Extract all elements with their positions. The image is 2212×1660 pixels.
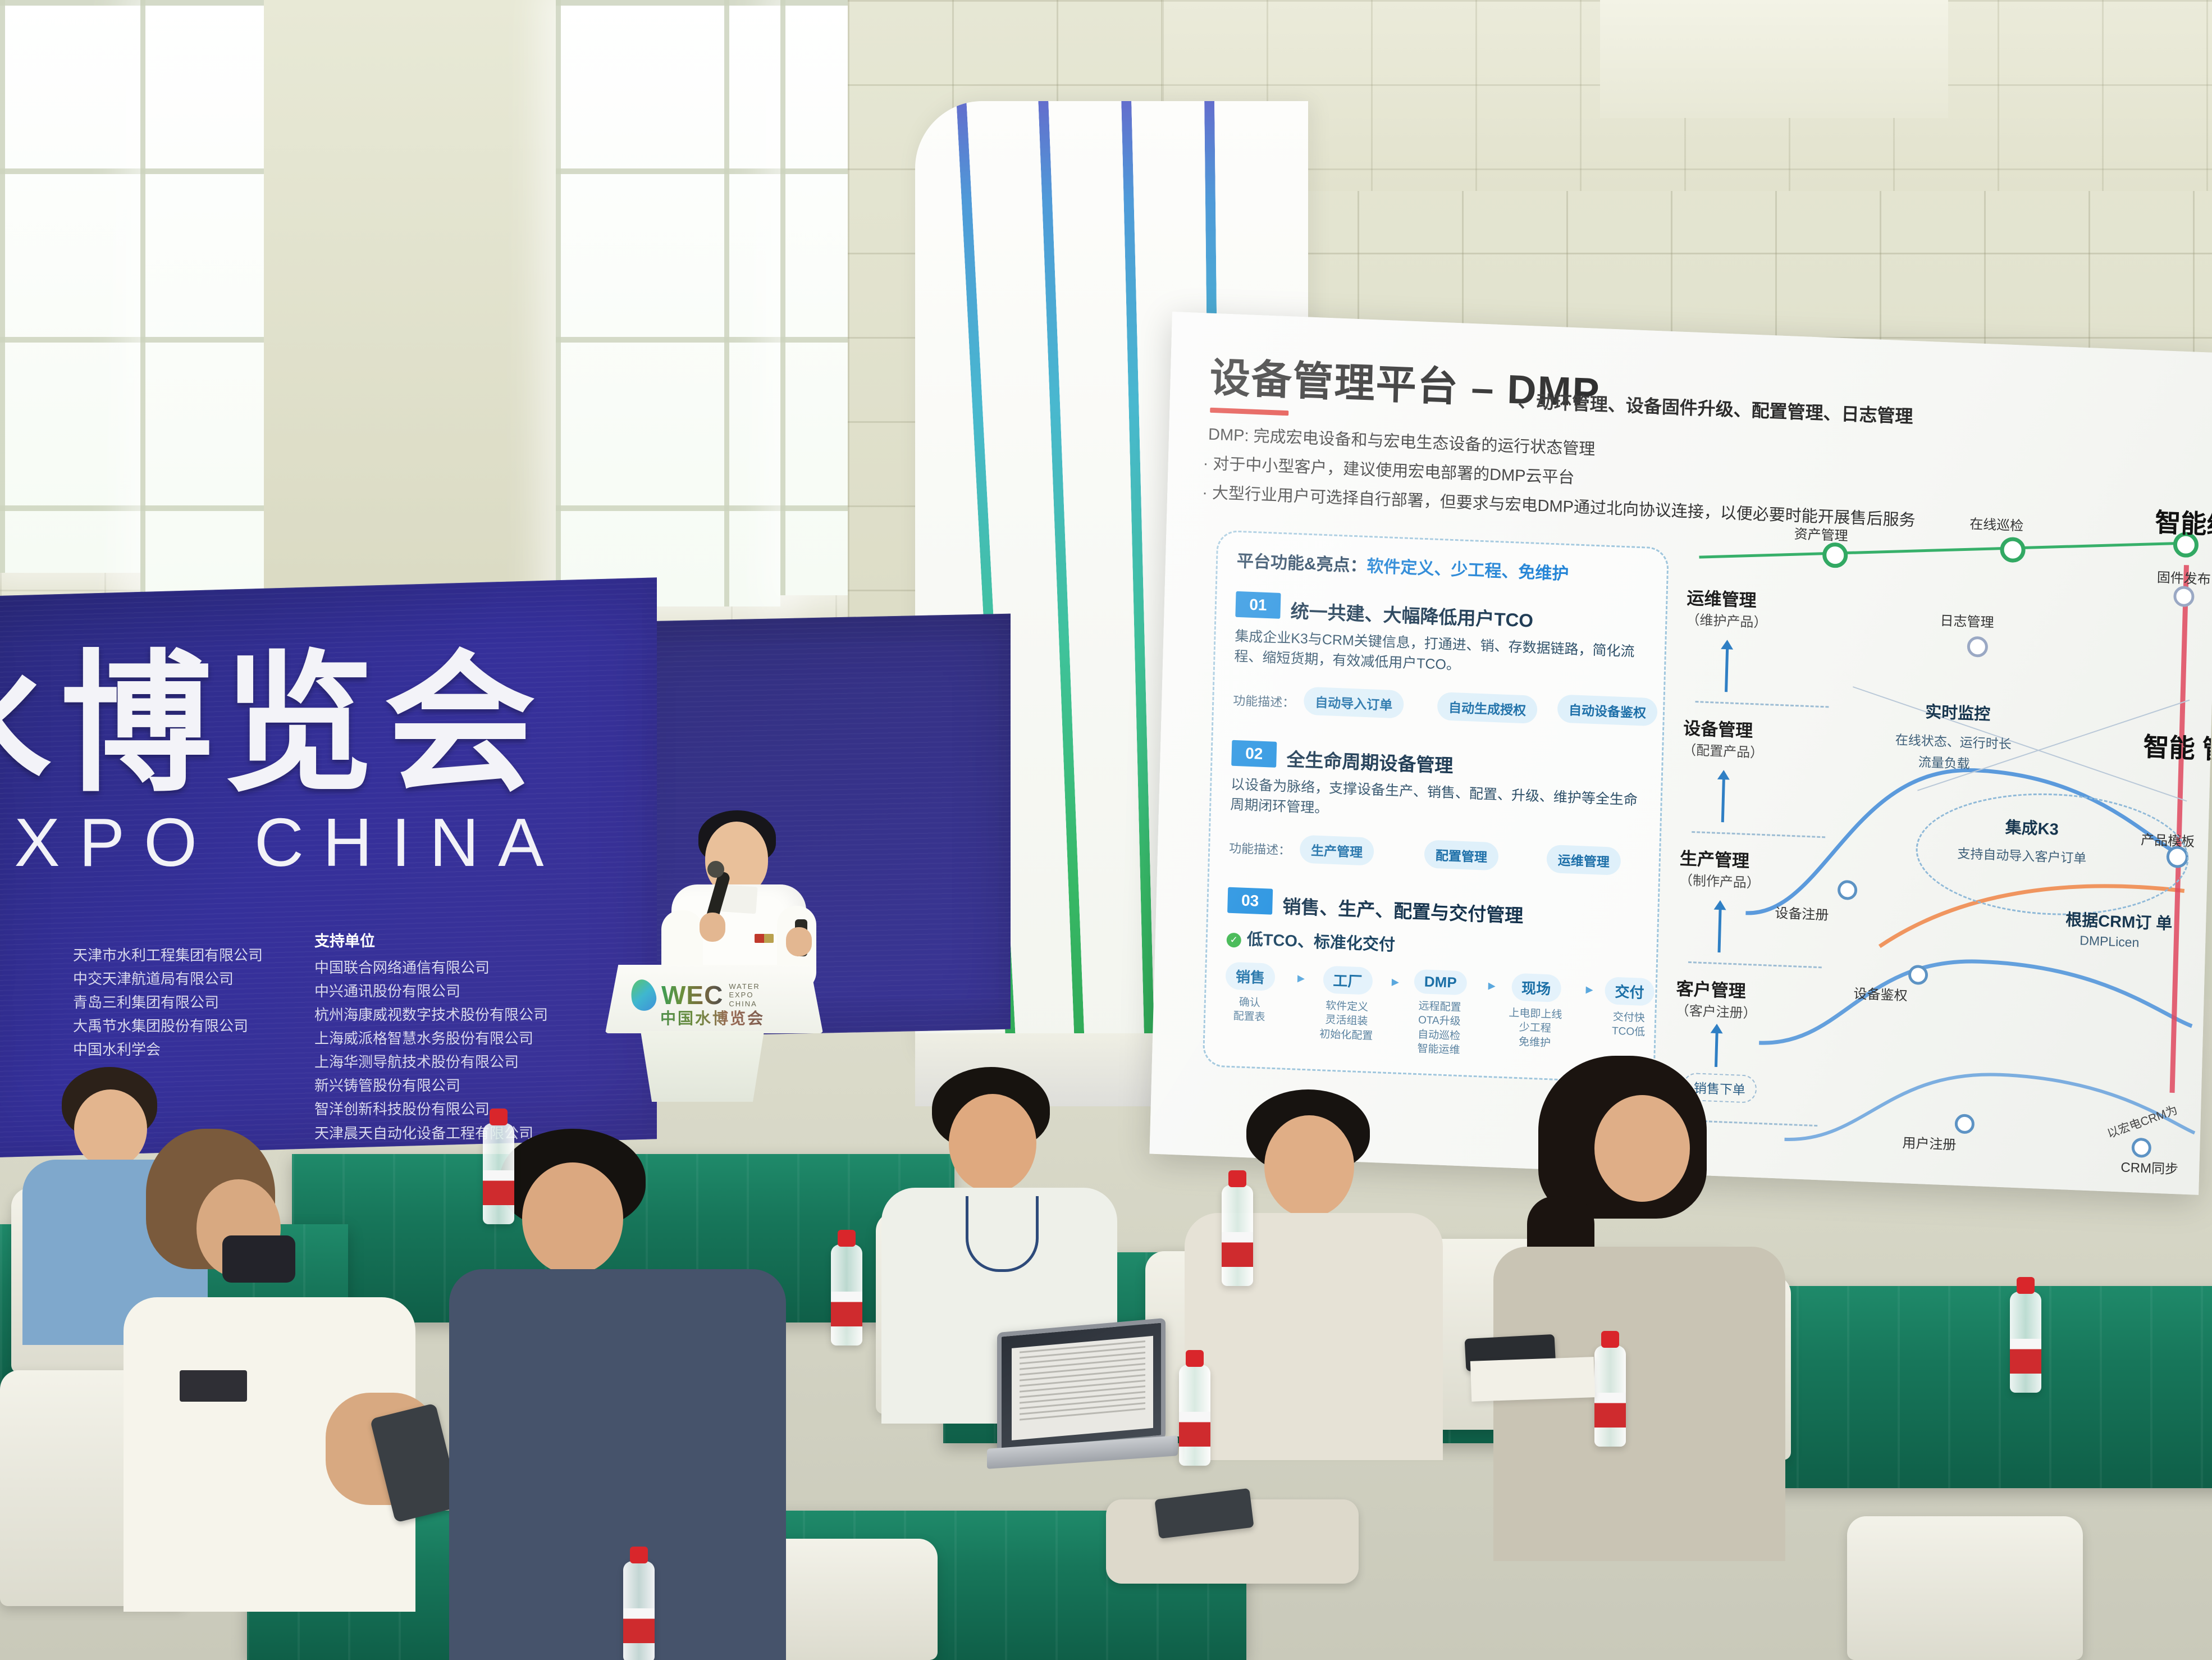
audience-head [949,1094,1036,1193]
audience-head [522,1162,623,1275]
section-02-tag-1: 生产管理 [1300,835,1374,866]
conference-room-photo: 设备管理平台 – DMP 、动环管理、设备固件升级、配置管理、日志管理 DMP:… [0,0,2212,1660]
wec-logo-cn: 中国水博览会 [660,1006,765,1029]
callout-k3-title: 集成K3 [2005,814,2059,840]
microphone-head-icon [707,861,724,878]
section-01-body: 集成企业K3与CRM关键信息，打通进、销、存数据链路，简化流程、缩短货期，有效减… [1234,627,1644,683]
flow-arrow-4: ▸ [1585,981,1593,998]
diagram-stage-4-sub: （客户注册） [1675,999,1757,1022]
audience-head [1264,1115,1354,1217]
water-bottle [1179,1365,1210,1466]
organizer-item: 中国水利学会 [73,1038,263,1061]
supporter-item: 中兴通讯股份有限公司 [314,979,548,1003]
flow-step-3-label: DMP [1414,969,1467,996]
feature-card-heading: 平台功能&亮点：软件定义、少工程、免维护 [1237,547,1569,585]
water-drop-icon [628,977,659,1013]
organizer-list: 天津市水利工程集团有限公司 中交天津航道局有限公司 青岛三利集团有限公司 大禹节… [73,943,263,1062]
wall-panel-left [264,0,556,618]
feature-heading-label: 平台功能&亮点： [1237,552,1367,576]
section-02-body: 以设备为脉络，支撑设备生产、销售、配置、升级、维护等全生命周期闭环管理。 [1230,775,1640,831]
water-bottle [483,1123,514,1224]
flow-step-2-label: 工厂 [1323,965,1373,995]
wec-logo-text: WEC [661,980,723,1010]
delivery-flow: 销售 确认配置表 ▸ 工厂 软件定义灵活组装初始化配置 ▸ DMP 远程配置OT… [1226,962,1641,978]
lanyard [966,1196,1039,1272]
diagram-stage-3-title: 生产管理 [1679,844,1749,872]
podium-front-panel: WEC WATER EXPO CHINA 中国水博览会 [605,965,823,1033]
window-bank-left [0,0,140,573]
laptop-document [1012,1336,1153,1440]
flow-arrow-1: ▸ [1297,969,1305,987]
diagram-stage-2-sub: （配置产品） [1683,738,1764,761]
flow-step-2-sub: 软件定义灵活组装初始化配置 [1319,998,1374,1043]
supporter-item: 杭州海康威视数字技术股份有限公司 [314,1003,548,1027]
flow-step-3: DMP 远程配置OTA升级自动巡检智能运维 [1412,969,1467,1058]
organizer-item: 青岛三利集团有限公司 [73,991,263,1014]
audience-head [74,1089,147,1168]
diagram-node-device-auth: 设备鉴权 [1853,983,1908,1005]
lifecycle-diagram: 资产管理 在线巡检 日志管理 固件发布 设备注册 产品模板 设备鉴权 用户注册 … [1672,467,2212,1172]
diagram-right-heading-1: 智能维 [2155,502,2212,542]
chair [1847,1516,2083,1660]
section-03-number: 03 [1227,887,1273,915]
section-02-title: 全生命周期设备管理 [1286,745,1454,778]
check-circle-icon: ✓ [1226,933,1241,948]
slide-subtitle-right: 、动环管理、设备固件升级、配置管理、日志管理 [1518,387,1913,428]
diagram-node-log: 日志管理 [1940,609,1994,631]
section-02-tag-3: 运维管理 [1546,845,1621,875]
speaker [645,800,830,986]
diagram-node-crm-sync: CRM同步 [2120,1156,2179,1178]
supporter-item: 新兴铸管股份有限公司 [314,1074,548,1097]
section-01-tag-2: 自动生成授权 [1437,692,1538,724]
supporter-item: 上海华测导航技术股份有限公司 [314,1050,548,1074]
section-01-tag-1: 自动导入订单 [1304,687,1404,719]
supporter-item: 上海威派格智慧水务股份有限公司 [314,1027,548,1050]
section-01-desc-label: 功能描述： [1233,691,1295,711]
window-bank-left-2 [140,0,264,663]
laptop-screen[interactable] [997,1318,1166,1454]
audience-head [1594,1095,1690,1202]
section-02-number: 02 [1231,740,1277,768]
flow-step-2: 工厂 软件定义灵活组装初始化配置 [1319,965,1375,1043]
diagram-stage-2-title: 设备管理 [1683,714,1753,742]
wec-sub-line-2: EXPO [729,991,760,1000]
window-bank-center [556,0,780,606]
water-bottle [1222,1185,1253,1286]
section-01-title: 统一共建、大幅降低用户TCO [1290,596,1534,633]
flow-step-5-sub: 交付快TCO低 [1603,1010,1653,1040]
section-02-tag-2: 配置管理 [1424,840,1498,870]
diagram-node-asset: 资产管理 [1794,523,1848,545]
title-underline [1210,408,1288,416]
section-01-number: 01 [1235,591,1281,619]
supporter-item: 中国联合网络通信有限公司 [314,956,548,979]
section-03-check-text: 低TCO、标准化交付 [1246,931,1395,954]
flow-step-1-label: 销售 [1225,962,1275,991]
flow-step-3-sub: 远程配置OTA升级自动巡检智能运维 [1412,999,1466,1058]
organizer-item: 中交天津航道局有限公司 [73,967,263,991]
callout-crm-title: 根据CRM订 单 [2065,906,2173,934]
flow-step-5-label: 交付 [1605,977,1655,1006]
flow-step-4-label: 现场 [1511,973,1561,1002]
diagram-node-device-reg: 设备注册 [1775,902,1829,924]
supporter-item: 智洋创新科技股份有限公司 [314,1097,548,1121]
section-03-check-line: ✓低TCO、标准化交付 [1226,925,1395,956]
callout-monitor-title: 实时监控 [1925,699,1991,725]
presentation-slide: 设备管理平台 – DMP 、动环管理、设备固件升级、配置管理、日志管理 DMP:… [1149,312,2212,1195]
section-01-tag-3: 自动设备鉴权 [1557,694,1657,726]
diagram-stage-4-title: 客户管理 [1676,974,1746,1002]
speaker-hand-left [700,913,725,942]
face-mask [222,1235,295,1283]
diagram-right-heading-2: 智能 管 [2143,726,2212,767]
notepad [1470,1357,1595,1402]
diagram-stage-1-sub: （维护产品） [1686,608,1767,631]
supporter-heading: 支持单位 [314,929,548,954]
water-bottle [623,1561,655,1660]
diagram-stage-1-title: 运维管理 [1687,583,1757,612]
feature-card: 平台功能&亮点：软件定义、少工程、免维护 01 统一共建、大幅降低用户TCO 集… [1203,530,1669,1084]
flow-step-4-sub: 上电即上线少工程免维护 [1508,1006,1562,1051]
flow-step-1: 销售 确认配置表 [1224,962,1276,1025]
wec-sub-line-1: WATER [729,982,760,991]
diagram-stage-3-sub: （制作产品） [1679,869,1761,892]
wec-logo-sub: WATER EXPO CHINA [729,982,760,1009]
audience-body [1493,1247,1785,1561]
diagram-node-user-reg: 用户注册 [1902,1132,1957,1153]
backdrop-wave-3 [1121,101,1155,1056]
callout-crm-sub: DMPLicen [2080,933,2140,950]
water-bottle [2010,1292,2041,1393]
flow-arrow-3: ▸ [1488,977,1496,995]
flow-arrow-2: ▸ [1391,973,1399,991]
banner-title-en: EXPO CHINA [0,803,563,882]
water-bottle [831,1244,862,1346]
flow-step-5: 交付 交付快TCO低 [1603,977,1655,1040]
organizer-item: 大禹节水集团股份有限公司 [73,1014,263,1038]
water-bottle [1594,1346,1626,1447]
section-02-desc-label: 功能描述： [1229,838,1291,859]
organizer-item: 天津市水利工程集团有限公司 [73,943,263,967]
flow-step-4: 现场 上电即上线少工程免维护 [1508,973,1564,1051]
flow-step-1-sub: 确认配置表 [1224,995,1274,1025]
section-03-title: 销售、生产、配置与交付管理 [1282,891,1524,928]
callout-monitor-sub-2: 流量负载 [1918,751,1970,773]
supporter-list: 支持单位 中国联合网络通信有限公司 中兴通讯股份有限公司 杭州海康威视数字技术股… [314,929,548,1145]
podium: WEC WATER EXPO CHINA 中国水博览会 [605,965,823,1100]
banner-title-cn: 水博览会 [0,601,546,820]
diagram-node-firmware: 固件发布 [2156,566,2211,588]
wall-panel-top-right [1600,0,1948,118]
backdrop-wave-2 [1037,101,1086,1056]
diagram-node-inspection: 在线巡检 [1969,513,2024,535]
audience-body [449,1269,786,1660]
window-bank-center-2 [780,0,848,595]
speaker-logo-badge [755,934,774,943]
feature-heading-highlight: 软件定义、少工程、免维护 [1366,557,1569,583]
shirt-graphic [180,1370,247,1402]
speaker-hand-right [786,927,812,956]
podium-base [632,1031,773,1102]
